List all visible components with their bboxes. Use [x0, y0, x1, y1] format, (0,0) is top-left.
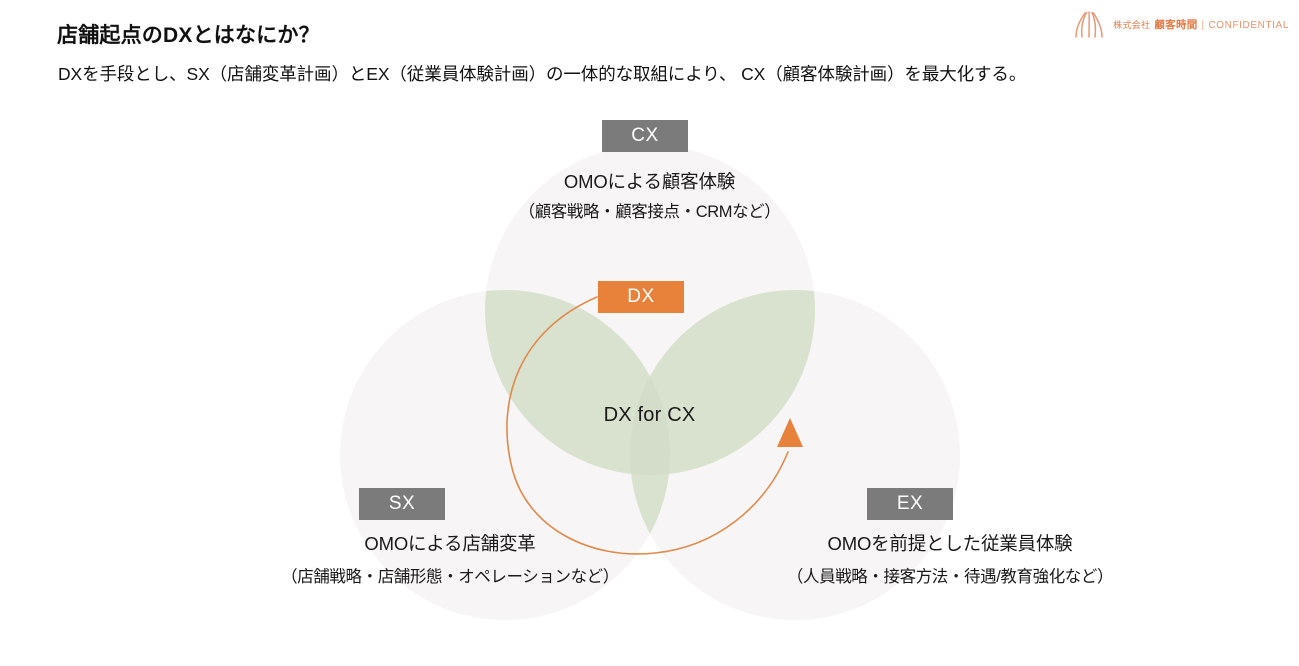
center-label: DX for CX — [0, 404, 1299, 427]
tag-sx-label: SX — [389, 493, 415, 515]
ex-heading: OMOを前提とした従業員体験 — [620, 530, 1280, 556]
tag-dx[interactable]: DX — [598, 281, 684, 313]
ex-subtext: （人員戦略・接客方法・待遇/教育強化など） — [620, 563, 1280, 587]
tag-sx[interactable]: SX — [359, 488, 445, 520]
tag-cx[interactable]: CX — [602, 120, 688, 152]
cx-subtext: （顧客戦略・顧客接点・CRMなど） — [0, 198, 1299, 222]
tag-ex[interactable]: EX — [867, 488, 953, 520]
tag-ex-label: EX — [897, 493, 923, 515]
tag-dx-label: DX — [627, 286, 654, 308]
cx-heading: OMOによる顧客体験 — [0, 168, 1299, 194]
tag-cx-label: CX — [631, 125, 658, 147]
